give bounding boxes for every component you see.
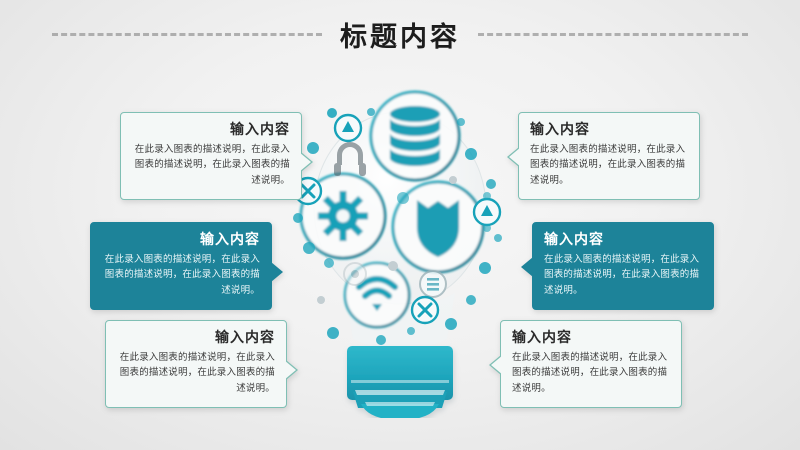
callout-title: 输入内容 — [117, 330, 275, 347]
slide-header: 标题内容 — [0, 8, 800, 60]
alert-badge-icon — [474, 199, 500, 225]
callout-tail-fill — [523, 257, 535, 277]
callout-body: 在此录入图表的描述说明，在此录入图表的描述说明，在此录入图表的描述说明。 — [544, 252, 702, 299]
callout-top-left[interactable]: 输入内容 在此录入图表的描述说明，在此录入图表的描述说明，在此录入图表的描述说明… — [120, 112, 302, 200]
callout-bottom-right[interactable]: 输入内容 在此录入图表的描述说明，在此录入图表的描述说明，在此录入图表的描述说明… — [500, 320, 682, 408]
callout-middle-left[interactable]: 输入内容 在此录入图表的描述说明，在此录入图表的描述说明，在此录入图表的描述说明… — [90, 222, 272, 310]
callout-title: 输入内容 — [132, 122, 290, 139]
warning-badge-icon — [335, 115, 361, 141]
callout-body: 在此录入图表的描述说明，在此录入图表的描述说明，在此录入图表的描述说明。 — [117, 350, 275, 397]
database-icon — [371, 92, 459, 180]
page-title: 标题内容 — [340, 15, 460, 54]
dashed-rule-left — [52, 33, 322, 36]
callout-title: 输入内容 — [102, 232, 260, 249]
bulb-base — [347, 346, 453, 418]
callout-tail-fill — [299, 152, 311, 172]
callout-body: 在此录入图表的描述说明，在此录入图表的描述说明，在此录入图表的描述说明。 — [102, 252, 260, 299]
lightbulb-infographic — [285, 88, 515, 418]
callout-body: 在此录入图表的描述说明，在此录入图表的描述说明，在此录入图表的描述说明。 — [530, 142, 688, 189]
callout-top-right[interactable]: 输入内容 在此录入图表的描述说明，在此录入图表的描述说明，在此录入图表的描述说明… — [518, 112, 700, 200]
callout-tail-fill — [284, 360, 296, 380]
cross-badge-icon — [412, 297, 438, 323]
callout-tail-fill — [509, 147, 521, 167]
dashed-rule-right — [478, 33, 748, 36]
callout-title: 输入内容 — [544, 232, 702, 249]
slide-canvas: 标题内容 — [0, 0, 800, 450]
list-badge-icon — [420, 271, 446, 297]
callout-title: 输入内容 — [530, 122, 688, 139]
callout-title: 输入内容 — [512, 330, 670, 347]
callout-tail-fill — [491, 355, 503, 375]
callout-body: 在此录入图表的描述说明，在此录入图表的描述说明，在此录入图表的描述说明。 — [512, 350, 670, 397]
callout-body: 在此录入图表的描述说明，在此录入图表的描述说明，在此录入图表的描述说明。 — [132, 142, 290, 189]
callout-bottom-left[interactable]: 输入内容 在此录入图表的描述说明，在此录入图表的描述说明，在此录入图表的描述说明… — [105, 320, 287, 408]
callout-middle-right[interactable]: 输入内容 在此录入图表的描述说明，在此录入图表的描述说明，在此录入图表的描述说明… — [532, 222, 714, 310]
small-cog-icon — [344, 263, 366, 285]
callout-tail-fill — [269, 262, 281, 282]
